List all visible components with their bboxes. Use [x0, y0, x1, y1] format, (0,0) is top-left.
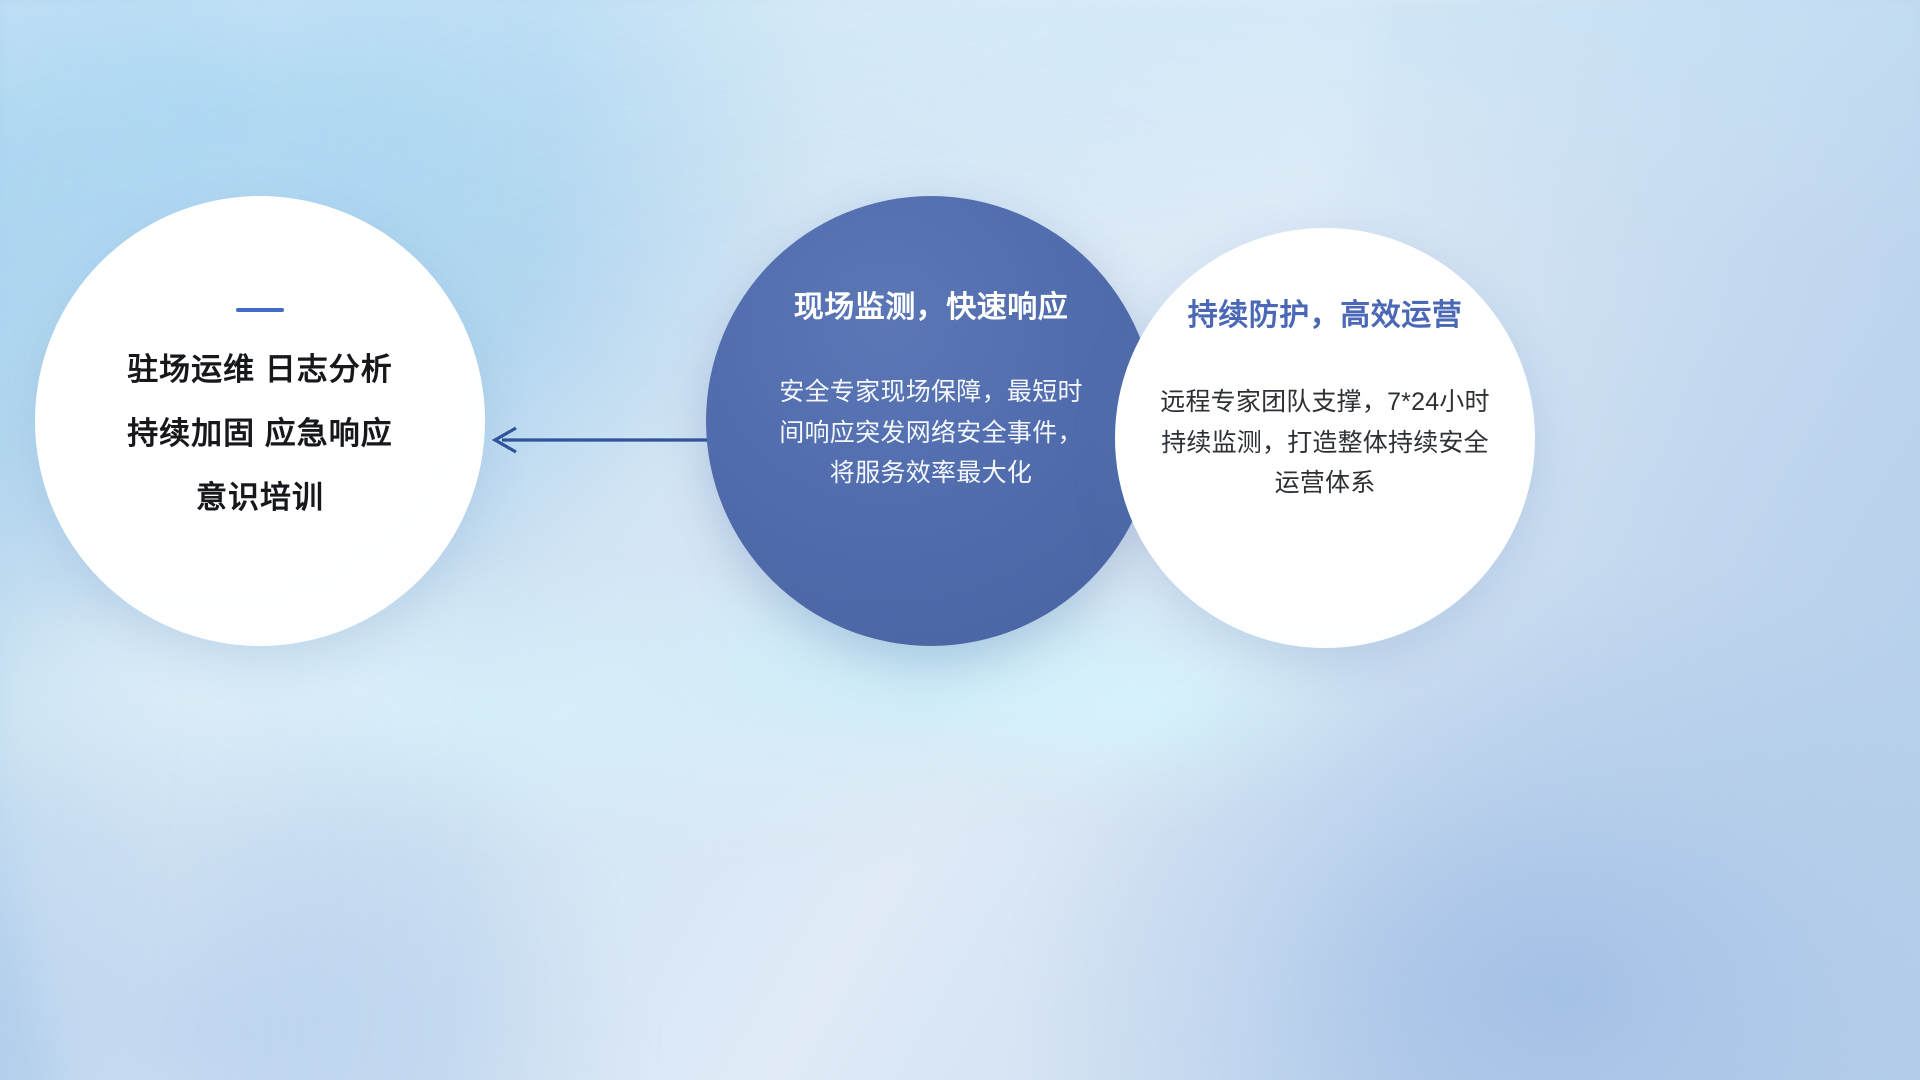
capability-row: 持续加固 应急响应: [127, 418, 393, 449]
capability-circle-middle[interactable]: 现场监测，快速响应 安全专家现场保障，最短时间响应突发网络安全事件，将服务效率最…: [706, 196, 1156, 646]
card-title: 现场监测，快速响应: [794, 282, 1069, 326]
card-title: 持续防护，高效运营: [1188, 290, 1463, 334]
diagram-stage: 驻场运维 日志分析 持续加固 应急响应 意识培训 现场监测，快速响应 安全专家现…: [0, 0, 1920, 1080]
capability-circle-left[interactable]: 驻场运维 日志分析 持续加固 应急响应 意识培训: [35, 196, 485, 646]
arrow-left-icon: [480, 418, 720, 462]
capability-circle-right[interactable]: 持续防护，高效运营 远程专家团队支撑，7*24小时持续监测，打造整体持续安全运营…: [1115, 228, 1535, 648]
horizontal-dash-icon: [236, 308, 284, 312]
card-body: 远程专家团队支撑，7*24小时持续监测，打造整体持续安全运营体系: [1149, 382, 1501, 504]
arrow-left-svg: [480, 418, 720, 462]
capability-row: 意识培训: [196, 482, 324, 513]
capability-row: 驻场运维 日志分析: [127, 354, 393, 385]
card-body: 安全专家现场保障，最短时间响应突发网络安全事件，将服务效率最大化: [776, 372, 1086, 494]
